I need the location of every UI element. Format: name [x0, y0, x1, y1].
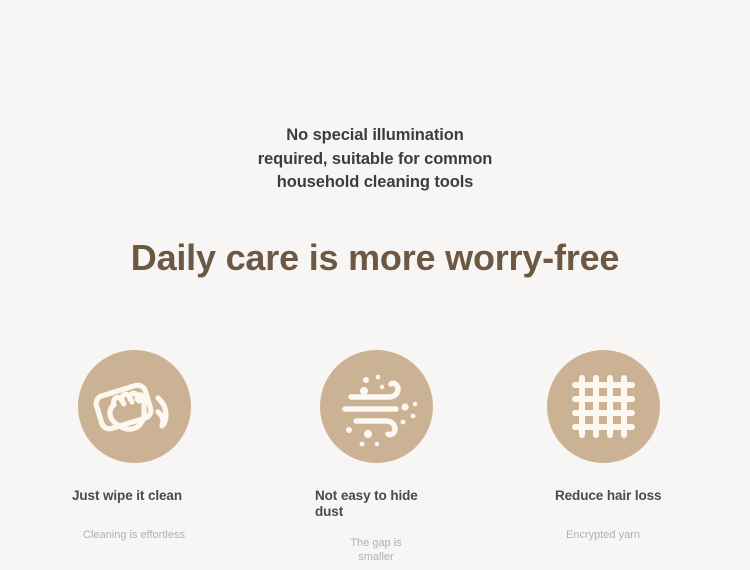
hand-wiping-cloth-icon: [78, 350, 191, 463]
feature-icon-circle: [78, 350, 191, 463]
page-title: Daily care is more worry-free: [0, 236, 750, 280]
feature-list: Just wipe it clean Cleaning is effortles…: [0, 350, 750, 570]
subtitle-line-3: household cleaning tools: [0, 171, 750, 195]
feature-subtitle: The gap is smaller: [261, 536, 491, 564]
feature-subtitle-line-1: The gap is: [350, 537, 401, 549]
feature-title: Not easy to hide dust: [315, 488, 441, 520]
feature-subtitle: Encrypted yarn: [488, 528, 718, 542]
wind-dust-icon: [320, 350, 433, 463]
feature-subtitle: Cleaning is effortless: [19, 528, 249, 542]
subtitle-block: No special illumination required, suitab…: [0, 124, 750, 195]
feature-icon-circle: [320, 350, 433, 463]
feature-title: Just wipe it clean: [72, 488, 232, 504]
feature-title: Reduce hair loss: [555, 488, 715, 504]
woven-grid-mesh-icon: [547, 350, 660, 463]
promo-page: No special illumination required, suitab…: [0, 0, 750, 570]
feature-subtitle-line-2: smaller: [358, 551, 393, 563]
subtitle-line-1: No special illumination: [0, 124, 750, 148]
feature-icon-circle: [547, 350, 660, 463]
subtitle-line-2: required, suitable for common: [0, 148, 750, 172]
